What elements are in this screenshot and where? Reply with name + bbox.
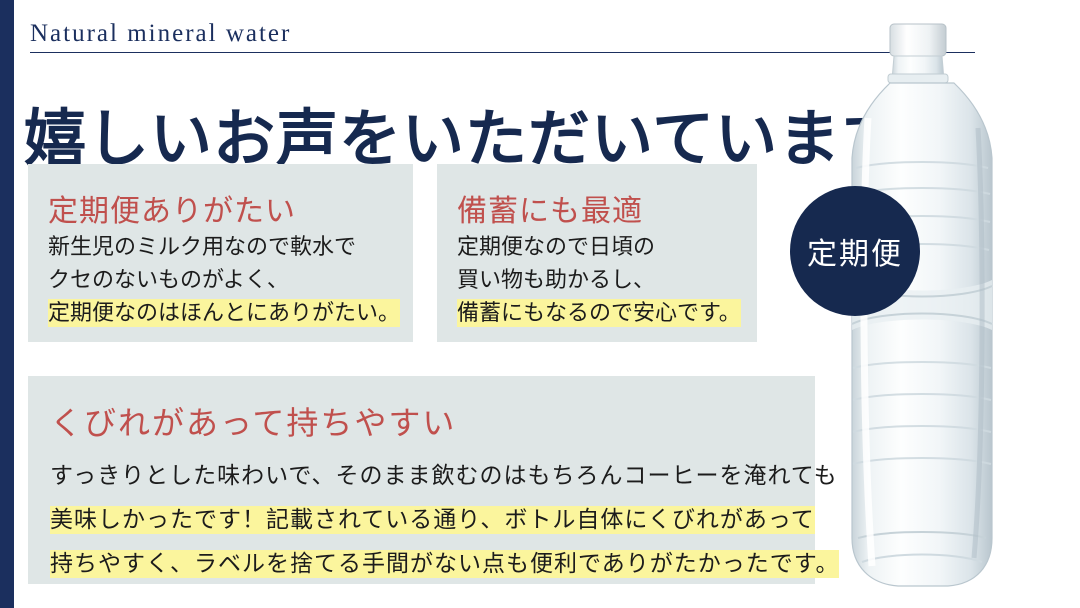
promo-page: Natural mineral water 嬉しいお声をいただいています 定期便… [0, 0, 1080, 608]
testimonial-line-text: クセのないものがよく、 [48, 267, 289, 292]
left-accent-bar [0, 0, 14, 608]
testimonial-line-text: 買い物も助かるし、 [457, 267, 655, 292]
testimonial-body: 新生児のミルク用なので軟水で クセのないものがよく、 定期便なのはほんとにありが… [48, 230, 400, 329]
subscription-badge: 定期便 [790, 186, 920, 316]
testimonial-line: すっきりとした味わいで、そのまま飲むのはもちろんコーヒーを淹れても [50, 454, 839, 498]
testimonial-line-text-highlighted: 定期便なのはほんとにありがたい。 [48, 299, 400, 327]
testimonial-line: 定期便なので日頃の [457, 230, 741, 263]
testimonial-line-text: 新生児のミルク用なので軟水で [48, 234, 356, 259]
eyebrow-text: Natural mineral water [30, 20, 291, 48]
testimonial-title: くびれがあって持ちやすい [50, 398, 456, 444]
testimonial-line: 美味しかったです！記載されている通り、ボトル自体にくびれがあって [50, 498, 839, 542]
testimonial-title: 定期便ありがたい [48, 186, 296, 230]
testimonial-card-3: くびれがあって持ちやすい すっきりとした味わいで、そのまま飲むのはもちろんコーヒ… [28, 376, 815, 584]
testimonial-line: 備蓄にもなるので安心です。 [457, 296, 741, 329]
testimonial-card-1: 定期便ありがたい 新生児のミルク用なので軟水で クセのないものがよく、 定期便な… [28, 164, 413, 342]
testimonial-line-text: 定期便なので日頃の [457, 234, 655, 259]
testimonial-title: 備蓄にも最適 [457, 186, 643, 230]
testimonial-body: すっきりとした味わいで、そのまま飲むのはもちろんコーヒーを淹れても 美味しかった… [50, 454, 839, 586]
testimonial-line: 定期便なのはほんとにありがたい。 [48, 296, 400, 329]
testimonial-line: 新生児のミルク用なので軟水で [48, 230, 400, 263]
testimonial-line: 買い物も助かるし、 [457, 263, 741, 296]
testimonial-body: 定期便なので日頃の 買い物も助かるし、 備蓄にもなるので安心です。 [457, 230, 741, 329]
testimonial-line-text: すっきりとした味わいで、そのまま飲むのはもちろんコーヒーを淹れても [50, 463, 838, 488]
testimonial-card-2: 備蓄にも最適 定期便なので日頃の 買い物も助かるし、 備蓄にもなるので安心です。 [437, 164, 757, 342]
testimonial-line: クセのないものがよく、 [48, 263, 400, 296]
testimonial-line-text-highlighted: 持ちやすく、ラベルを捨てる手間がない点も便利でありがたかったです。 [50, 550, 839, 578]
testimonial-line-text-highlighted: 美味しかったです！記載されている通り、ボトル自体にくびれがあって [50, 506, 815, 534]
testimonial-line-text-highlighted: 備蓄にもなるので安心です。 [457, 299, 741, 327]
subscription-badge-label: 定期便 [790, 186, 920, 316]
testimonial-line: 持ちやすく、ラベルを捨てる手間がない点も便利でありがたかったです。 [50, 542, 839, 586]
